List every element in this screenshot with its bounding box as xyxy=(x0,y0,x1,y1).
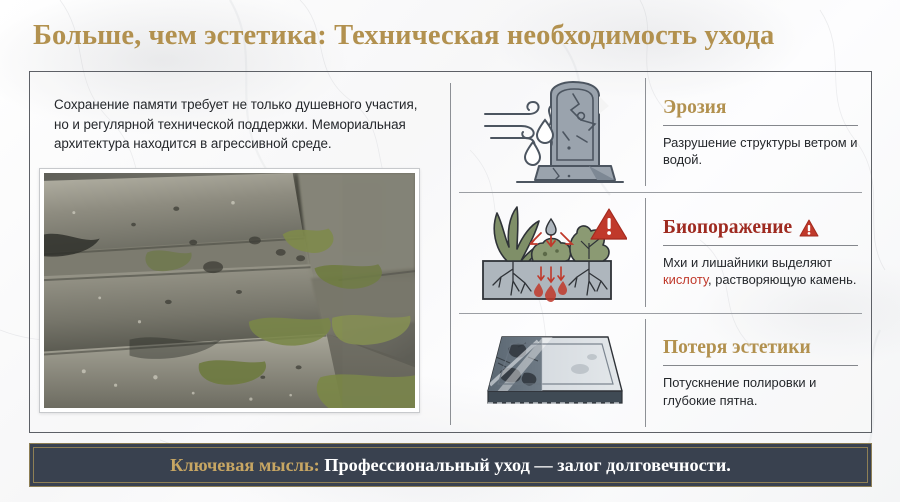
key-takeaway-bar: Ключевая мысль: Профессиональный уход — … xyxy=(29,443,872,487)
intro-paragraph: Сохранение памяти требует не только душе… xyxy=(54,95,428,154)
eroded-gravestone-wind-water-icon xyxy=(459,78,645,186)
risk-body-biodamage: Биопоражение Мхи и лишайники выделяют ки… xyxy=(645,198,858,306)
risk-desc-highlight: кислоту xyxy=(663,272,708,287)
risk-desc-erosion: Разрушение структуры ветром и водой. xyxy=(663,134,858,169)
risk-title-erosion: Эрозия xyxy=(663,96,858,120)
title-underline xyxy=(663,125,858,126)
risk-item-biodamage[interactable]: Биопоражение Мхи и лишайники выделяют ки… xyxy=(451,192,872,312)
key-takeaway-label: Ключевая мысль: xyxy=(170,455,320,475)
risk-desc-text-before: Мхи и лишайники выделяют xyxy=(663,255,832,270)
risk-desc-text: Потускнение полировки и глубокие пятна. xyxy=(663,375,816,408)
risk-body-erosion: Эрозия Разрушение структуры ветром и вод… xyxy=(645,78,858,186)
risk-desc-aesthetic-loss: Потускнение полировки и глубокие пятна. xyxy=(663,374,858,409)
title-underline xyxy=(663,365,858,366)
risk-desc-biodamage: Мхи и лишайники выделяют кислоту, раство… xyxy=(663,254,858,289)
key-takeaway-text: Ключевая мысль: Профессиональный уход — … xyxy=(170,455,731,476)
risk-title-aesthetic-loss: Потеря эстетики xyxy=(663,336,858,360)
warning-triangle-icon xyxy=(799,219,819,237)
key-takeaway-body: Профессиональный уход — залог долговечно… xyxy=(320,455,731,475)
risk-title-text: Эрозия xyxy=(663,96,726,120)
monument-photo-frame xyxy=(39,168,420,413)
page-title: Больше, чем эстетика: Техническая необхо… xyxy=(0,20,774,52)
risk-title-text: Потеря эстетики xyxy=(663,336,811,360)
weathered-stone-illustration xyxy=(44,173,415,408)
slide-header: Больше, чем эстетика: Техническая необхо… xyxy=(0,0,900,71)
moss-lichen-roots-acid-icon xyxy=(459,198,645,306)
risk-item-erosion[interactable]: Эрозия Разрушение структуры ветром и вод… xyxy=(451,72,872,192)
polished-slab-stained-icon xyxy=(459,319,645,427)
slide-root: Больше, чем эстетика: Техническая необхо… xyxy=(0,0,900,502)
risk-item-aesthetic-loss[interactable]: Потеря эстетики Потускнение полировки и … xyxy=(451,313,872,433)
risk-desc-text-after: , растворяющую камень. xyxy=(708,272,856,287)
title-underline xyxy=(663,245,858,246)
monument-photo xyxy=(44,173,415,408)
risk-desc-text: Разрушение структуры ветром и водой. xyxy=(663,135,857,168)
risk-title-biodamage: Биопоражение xyxy=(663,216,858,240)
risk-title-text: Биопоражение xyxy=(663,216,792,240)
risk-body-aesthetic-loss: Потеря эстетики Потускнение полировки и … xyxy=(645,319,858,427)
risk-list: Эрозия Разрушение структуры ветром и вод… xyxy=(451,72,872,433)
